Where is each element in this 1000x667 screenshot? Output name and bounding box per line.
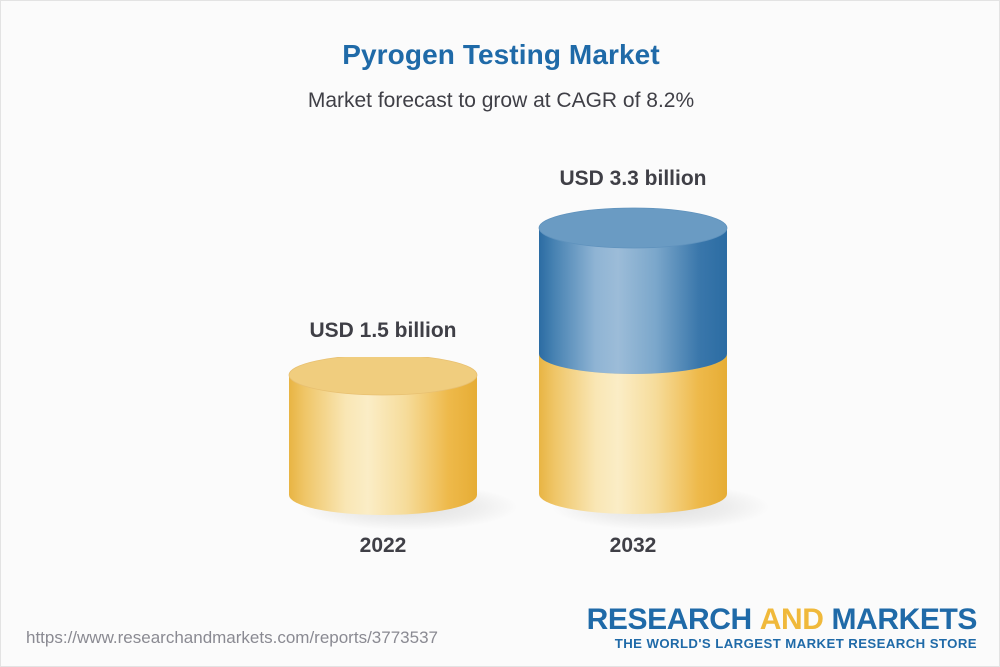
logo-word-markets: MARKETS xyxy=(831,603,977,636)
bar-2032-year-label: 2032 xyxy=(533,534,733,558)
bar-2032-cylinder xyxy=(537,206,729,518)
chart-canvas: Pyrogen Testing Market Market forecast t… xyxy=(0,0,1000,667)
bar-2022-value-label: USD 1.5 billion xyxy=(283,319,483,343)
logo-wordmark: RESEARCH AND MARKETS xyxy=(587,604,977,635)
logo-word-and: AND xyxy=(760,603,824,636)
logo-tagline: THE WORLD'S LARGEST MARKET RESEARCH STOR… xyxy=(587,636,977,653)
plot-area: USD 1.5 billion 2022 xyxy=(1,1,1000,667)
source-url[interactable]: https://www.researchandmarkets.com/repor… xyxy=(26,628,438,648)
bar-2022-year-label: 2022 xyxy=(283,534,483,558)
bar-2022-cylinder xyxy=(287,357,479,517)
logo-word-research: RESEARCH xyxy=(587,603,752,636)
research-and-markets-logo[interactable]: RESEARCH AND MARKETS THE WORLD'S LARGEST… xyxy=(587,604,977,652)
bar-2032-value-label: USD 3.3 billion xyxy=(533,167,733,191)
